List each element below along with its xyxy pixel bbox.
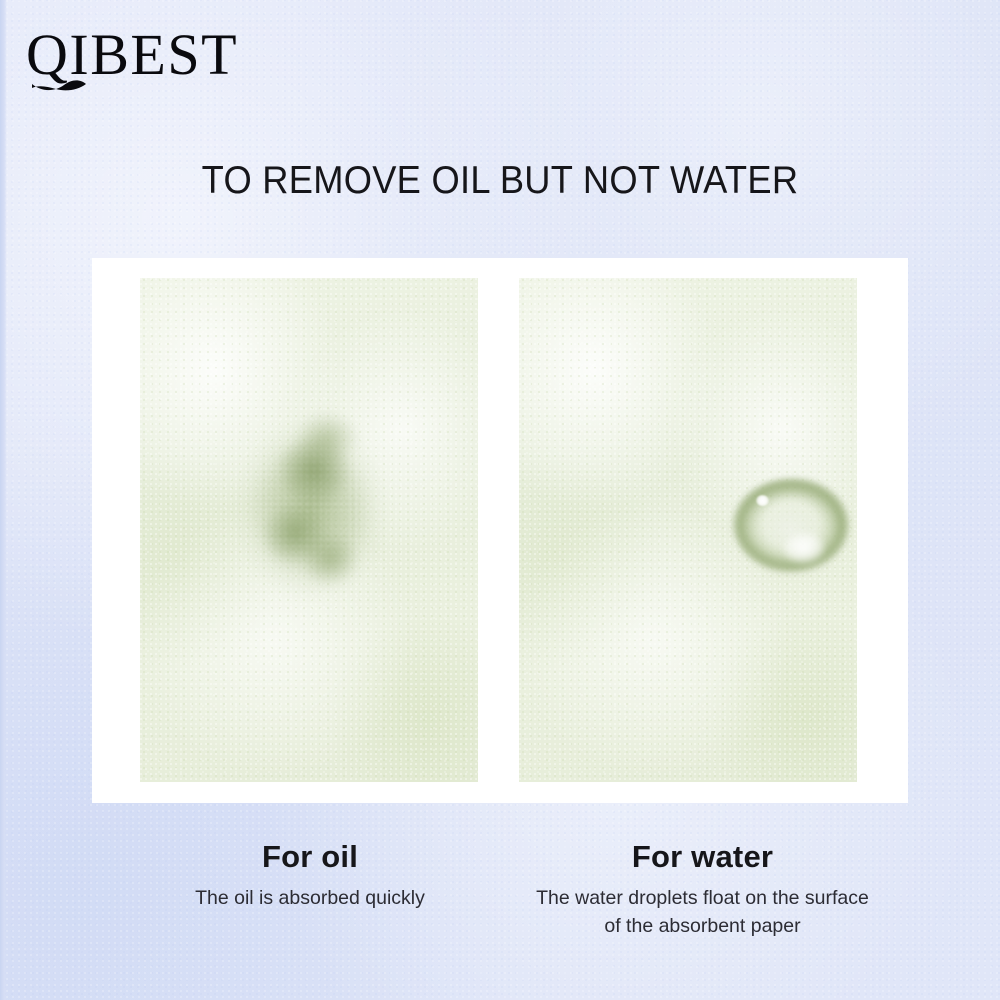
brand-logo: QIBEST [26, 22, 306, 98]
caption-water-subtitle: The water droplets float on the surface … [505, 884, 900, 940]
oil-stain-graphic [232, 410, 390, 610]
left-edge-accent [0, 0, 7, 1000]
panel-oil [140, 278, 478, 782]
caption-oil-title: For oil [130, 838, 490, 876]
comparison-card [92, 258, 908, 803]
caption-oil: For oil The oil is absorbed quickly [130, 838, 490, 912]
qibest-wordmark-icon: QIBEST [26, 22, 306, 98]
droplet-specular-highlight [756, 495, 769, 506]
logo-text: QIBEST [26, 22, 238, 87]
droplet-soft-highlight [784, 533, 824, 563]
caption-water-subtitle-line2: of the absorbent paper [505, 912, 900, 940]
caption-water-subtitle-line1: The water droplets float on the surface [505, 884, 900, 912]
caption-water-title: For water [505, 838, 900, 876]
caption-water: For water The water droplets float on th… [505, 838, 900, 940]
page-title: TO REMOVE OIL BUT NOT WATER [35, 160, 965, 202]
caption-oil-subtitle: The oil is absorbed quickly [130, 884, 490, 912]
product-feature-image: QIBEST TO REMOVE OIL BUT NOT WATER For [0, 0, 1000, 1000]
panel-water [519, 278, 857, 782]
water-droplet-graphic [732, 477, 850, 573]
